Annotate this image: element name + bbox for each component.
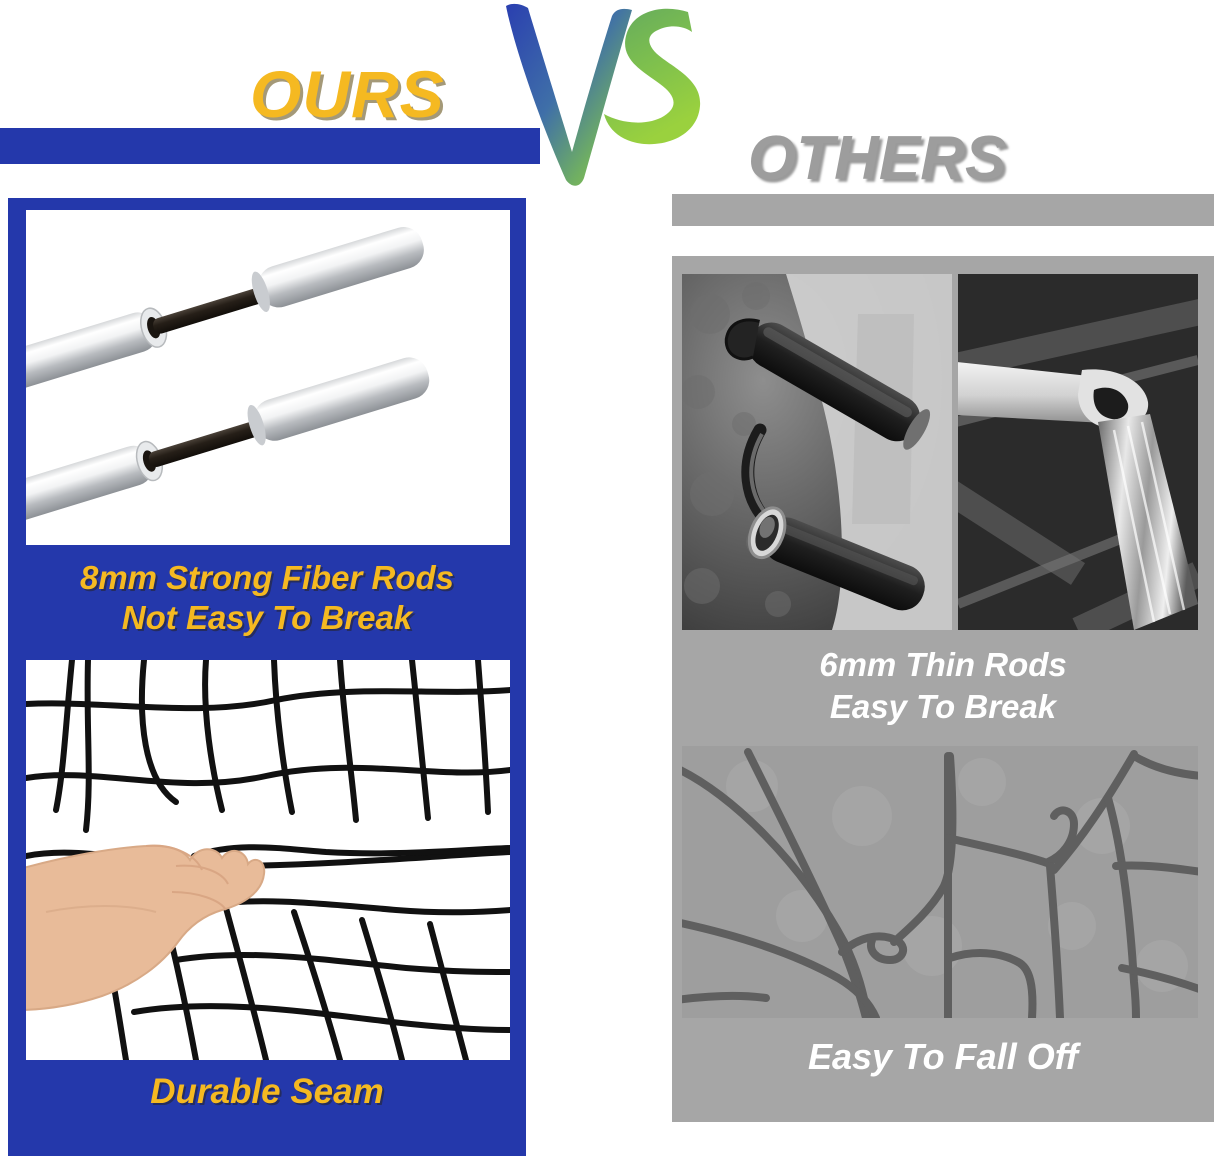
others-top-photo-row <box>682 274 1198 630</box>
loose-net-mesh-photo <box>682 746 1198 1018</box>
ours-caption-rods: 8mm Strong Fiber Rods Not Easy To Break <box>8 558 526 638</box>
ours-caption-rods-line1: 8mm Strong Fiber Rods <box>8 558 526 598</box>
hand-pulling-net-photo <box>26 660 510 1060</box>
broken-fiber-rod-photo <box>682 274 952 630</box>
ours-caption-seam: Durable Seam <box>8 1070 526 1114</box>
others-caption-rods-line2: Easy To Break <box>672 686 1214 728</box>
damaged-rod-tip-photo <box>958 274 1198 630</box>
others-title: OTHERS <box>748 124 1168 194</box>
others-header-bar <box>672 194 1214 226</box>
others-caption-rods: 6mm Thin Rods Easy To Break <box>672 644 1214 728</box>
ours-header-bar <box>0 128 540 164</box>
ours-comparison-panel: 8mm Strong Fiber Rods Not Easy To Break <box>8 198 526 1156</box>
vs-letter-v <box>506 4 632 186</box>
ours-caption-rods-line2: Not Easy To Break <box>8 598 526 638</box>
vs-logo <box>492 2 732 192</box>
others-caption-falloff: Easy To Fall Off <box>672 1034 1214 1080</box>
others-comparison-panel: 6mm Thin Rods Easy To Break <box>672 256 1214 1122</box>
fiber-rod-connector-photo <box>26 210 510 545</box>
others-caption-rods-line1: 6mm Thin Rods <box>672 644 1214 686</box>
